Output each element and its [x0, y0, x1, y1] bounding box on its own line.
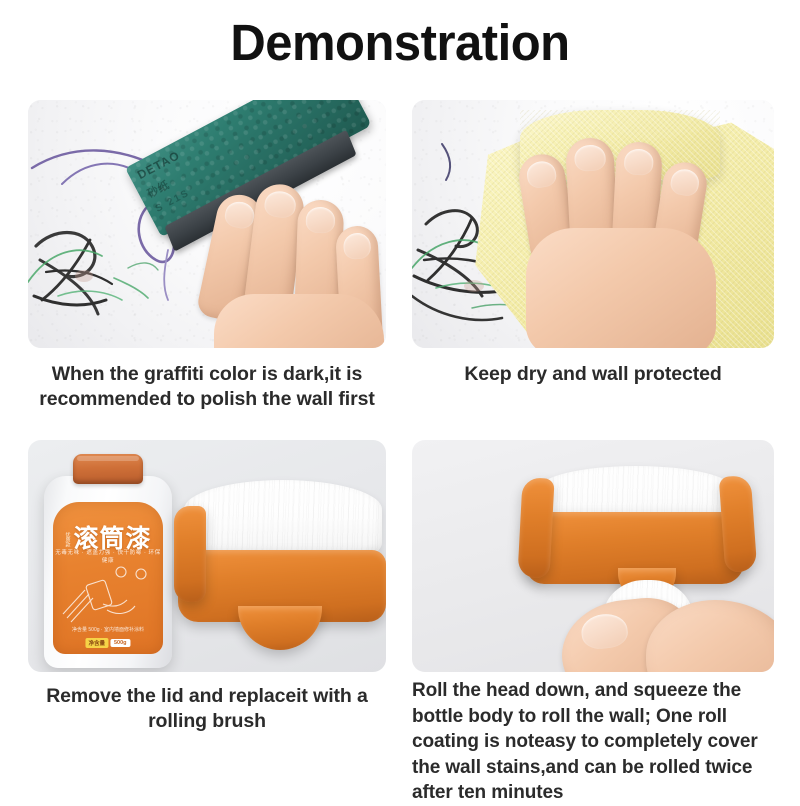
fingernail [223, 199, 257, 231]
photo-polish-wall: DETAO 砂纸 S 21S [28, 100, 386, 348]
demonstration-infographic: Demonstration [0, 0, 800, 800]
hand-holding-roller [562, 578, 774, 672]
label-illustration [59, 560, 157, 626]
page-title: Demonstration [16, 14, 784, 72]
label-brand-mini: 优质款 [64, 532, 70, 547]
caption-roll-wall: Roll the head down, and squeeze the bott… [412, 678, 780, 806]
fingernail [669, 167, 701, 197]
badge-net-weight-value: 500g [110, 639, 131, 647]
roller-end-cap-right [719, 475, 758, 573]
fingernail [624, 148, 655, 176]
palm [526, 228, 716, 348]
bottle-label: 优质款 滚筒漆 无毒无味 · 遮盖力强 · 快干防霉 · 环保健康 [53, 502, 163, 654]
fingernail [574, 144, 606, 172]
caption-polish-wall: When the graffiti color is dark,it is re… [28, 362, 386, 412]
roller-brush-attachment [178, 476, 386, 666]
palm [214, 294, 384, 348]
photo-replace-lid: 优质款 滚筒漆 无毒无味 · 遮盖力强 · 快干防霉 · 环保健康 [28, 440, 386, 672]
fingernail [305, 207, 335, 234]
label-footer: 净含量 500g · 室内墙面修补涂料 [53, 627, 163, 634]
fingernail [263, 190, 297, 220]
badge-net-weight-label: 净含量 [85, 638, 108, 648]
caption-keep-dry: Keep dry and wall protected [412, 362, 774, 387]
hand-wiping-wall [508, 136, 738, 348]
fingernail [343, 232, 371, 259]
photo-roll-wall [412, 440, 774, 672]
caption-replace-lid: Remove the lid and replaceit with a roll… [28, 684, 386, 734]
bottle-cap [73, 454, 143, 484]
roller-end-cap-left [517, 477, 554, 579]
paint-bottle: 优质款 滚筒漆 无毒无味 · 遮盖力强 · 快干防霉 · 环保健康 [44, 454, 172, 668]
thumbnail [580, 612, 629, 651]
fingernail [525, 159, 558, 189]
roller-end-cap-left [174, 506, 206, 602]
label-weight-badge: 净含量 500g [85, 638, 130, 648]
hand-holding-sanding-block [204, 176, 386, 348]
roller-stem [238, 606, 322, 650]
photo-keep-dry [412, 100, 774, 348]
